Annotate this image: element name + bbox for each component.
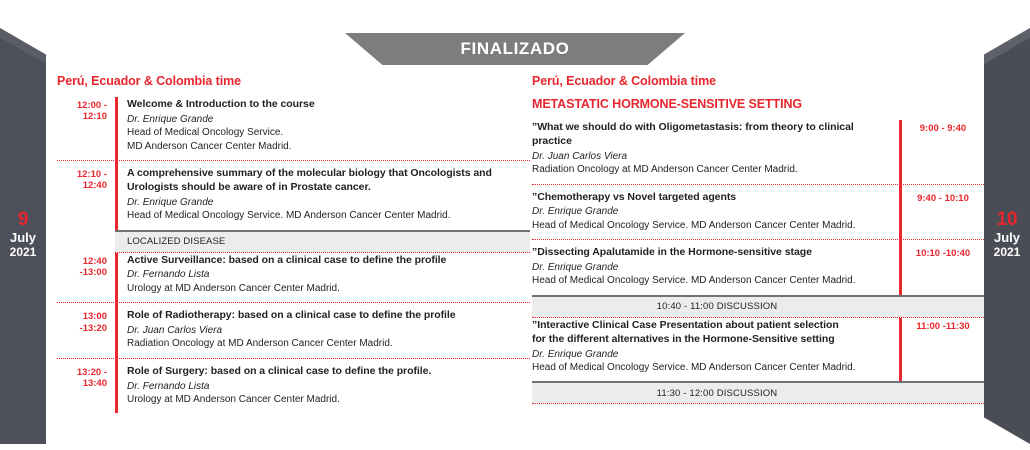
talk-content: A comprehensive summary of the molecular… — [115, 167, 530, 223]
talk-content: ”Interactive Clinical Case Presentation … — [532, 319, 902, 375]
status-ribbon: FINALIZADO — [345, 33, 685, 65]
speaker-affiliation: Urology at MD Anderson Cancer Center Mad… — [127, 393, 530, 406]
talk-content: ”What we should do with Oligometastasis:… — [532, 121, 902, 177]
agenda-column-day1: Perú, Ecuador & Colombia time 12:00 - 12… — [57, 74, 530, 413]
timeline-rule — [115, 253, 118, 414]
speaker-affiliation: Urology at MD Anderson Cancer Center Mad… — [127, 282, 530, 295]
speaker-affiliation: Head of Medical Oncology Service. MD And… — [127, 209, 530, 222]
status-badge: FINALIZADO — [461, 39, 570, 59]
section-band-label: LOCALIZED DISEASE — [127, 236, 225, 247]
agenda-row: ”Chemotherapy vs Novel targeted agentsDr… — [532, 184, 984, 240]
speaker-name: Dr. Enrique Grande — [532, 205, 890, 218]
section-band: 10:40 - 11:00 DISCUSSION — [532, 295, 984, 318]
agenda-row-time: 12:10 - 12:40 — [57, 167, 115, 223]
speaker-affiliation: Head of Medical Oncology Service. MD And… — [532, 219, 890, 232]
date-panel-day2: 10 July 2021 — [984, 28, 1030, 444]
date-month-day1: July — [0, 231, 46, 245]
talk-title: Role of Radiotherapy: based on a clinica… — [127, 309, 530, 323]
date-year-day2: 2021 — [984, 246, 1030, 259]
agenda-row: 13:20 - 13:40Role of Surgery: based on a… — [57, 358, 530, 414]
talk-content: Role of Radiotherapy: based on a clinica… — [115, 309, 530, 351]
agenda-rows-day1: 12:00 - 12:10Welcome & Introduction to t… — [57, 97, 530, 413]
agenda-row-time: 13:20 - 13:40 — [57, 365, 115, 407]
talk-title: ”Interactive Clinical Case Presentation … — [532, 319, 890, 333]
speaker-affiliation: Radiation Oncology at MD Anderson Cancer… — [532, 163, 890, 176]
speaker-name: Dr. Fernando Lista — [127, 380, 530, 393]
speaker-name: Dr. Juan Carlos Viera — [532, 150, 890, 163]
agenda-row: ”Interactive Clinical Case Presentation … — [532, 318, 984, 382]
agenda-row: 12:40 -13:00Active Surveillance: based o… — [57, 253, 530, 303]
talk-content: ”Dissecting Apalutamide in the Hormone-s… — [532, 246, 902, 288]
date-year-day1: 2021 — [0, 246, 46, 259]
speaker-affiliation: Head of Medical Oncology Service. MD And… — [532, 274, 890, 287]
agenda-row: 13:00 -13:20Role of Radiotherapy: based … — [57, 302, 530, 358]
talk-title: A comprehensive summary of the molecular… — [127, 167, 530, 195]
talk-content: Active Surveillance: based on a clinical… — [115, 254, 530, 296]
date-month-day2: July — [984, 231, 1030, 245]
talk-title: ”What we should do with Oligometastasis:… — [532, 121, 890, 149]
talk-title: Role of Surgery: based on a clinical cas… — [127, 365, 530, 379]
date-block-day2: 10 July 2021 — [984, 210, 1030, 258]
agenda-row-time: 10:10 -10:40 — [902, 246, 984, 288]
talk-title: for the different alternatives in the Ho… — [532, 333, 890, 347]
agenda-row: 12:10 - 12:40A comprehensive summary of … — [57, 160, 530, 230]
agenda-row: 12:00 - 12:10Welcome & Introduction to t… — [57, 97, 530, 160]
date-day-day1: 9 — [0, 210, 46, 230]
timeline-rule — [899, 318, 902, 382]
talk-title: ”Dissecting Apalutamide in the Hormone-s… — [532, 246, 890, 260]
talk-title: ”Chemotherapy vs Novel targeted agents — [532, 191, 890, 205]
section-band-label: 11:30 - 12:00 DISCUSSION — [657, 388, 778, 399]
agenda-row-time: 9:40 - 10:10 — [902, 191, 984, 233]
speaker-name: Dr. Enrique Grande — [127, 196, 530, 209]
timezone-heading-day2: Perú, Ecuador & Colombia time — [532, 74, 984, 88]
agenda-row-time: 13:00 -13:20 — [57, 309, 115, 351]
section-band-label: 10:40 - 11:00 DISCUSSION — [657, 301, 778, 312]
agenda-row: ”What we should do with Oligometastasis:… — [532, 120, 984, 184]
agenda-row-time: 9:00 - 9:40 — [902, 121, 984, 177]
timeline-rule — [899, 120, 902, 295]
agenda-rows-day2: ”What we should do with Oligometastasis:… — [532, 120, 984, 404]
talk-title: Welcome & Introduction to the course — [127, 98, 530, 112]
talk-content: Role of Surgery: based on a clinical cas… — [115, 365, 530, 407]
speaker-affiliation: Head of Medical Oncology Service. — [127, 126, 530, 139]
speaker-name: Dr. Enrique Grande — [532, 261, 890, 274]
speaker-affiliation: Radiation Oncology at MD Anderson Cancer… — [127, 337, 530, 350]
speaker-name: Dr. Fernando Lista — [127, 268, 530, 281]
agenda-column-day2: Perú, Ecuador & Colombia time METASTATIC… — [532, 74, 984, 404]
agenda-row-time: 11:00 -11:30 — [902, 319, 984, 375]
talk-content: ”Chemotherapy vs Novel targeted agentsDr… — [532, 191, 902, 233]
date-panel-day1: 9 July 2021 — [0, 28, 46, 444]
agenda-poster: 9 July 2021 10 July 2021 FINALIZADO Perú… — [0, 0, 1030, 450]
talk-title: Active Surveillance: based on a clinical… — [127, 254, 530, 268]
agenda-row: ”Dissecting Apalutamide in the Hormone-s… — [532, 239, 984, 295]
timezone-heading-day1: Perú, Ecuador & Colombia time — [57, 74, 530, 88]
date-day-day2: 10 — [984, 210, 1030, 230]
section-heading-metastatic: METASTATIC HORMONE-SENSITIVE SETTING — [532, 97, 984, 111]
talk-content: Welcome & Introduction to the courseDr. … — [115, 98, 530, 153]
speaker-affiliation: MD Anderson Cancer Center Madrid. — [127, 140, 530, 153]
agenda-row-time: 12:40 -13:00 — [57, 254, 115, 296]
section-band: 11:30 - 12:00 DISCUSSION — [532, 381, 984, 404]
speaker-name: Dr. Enrique Grande — [127, 113, 530, 126]
section-band: LOCALIZED DISEASE — [115, 230, 530, 253]
timeline-rule — [115, 97, 118, 230]
date-block-day1: 9 July 2021 — [0, 210, 46, 258]
speaker-name: Dr. Enrique Grande — [532, 348, 890, 361]
speaker-affiliation: Head of Medical Oncology Service. MD And… — [532, 361, 890, 374]
agenda-row-time: 12:00 - 12:10 — [57, 98, 115, 153]
speaker-name: Dr. Juan Carlos Viera — [127, 324, 530, 337]
